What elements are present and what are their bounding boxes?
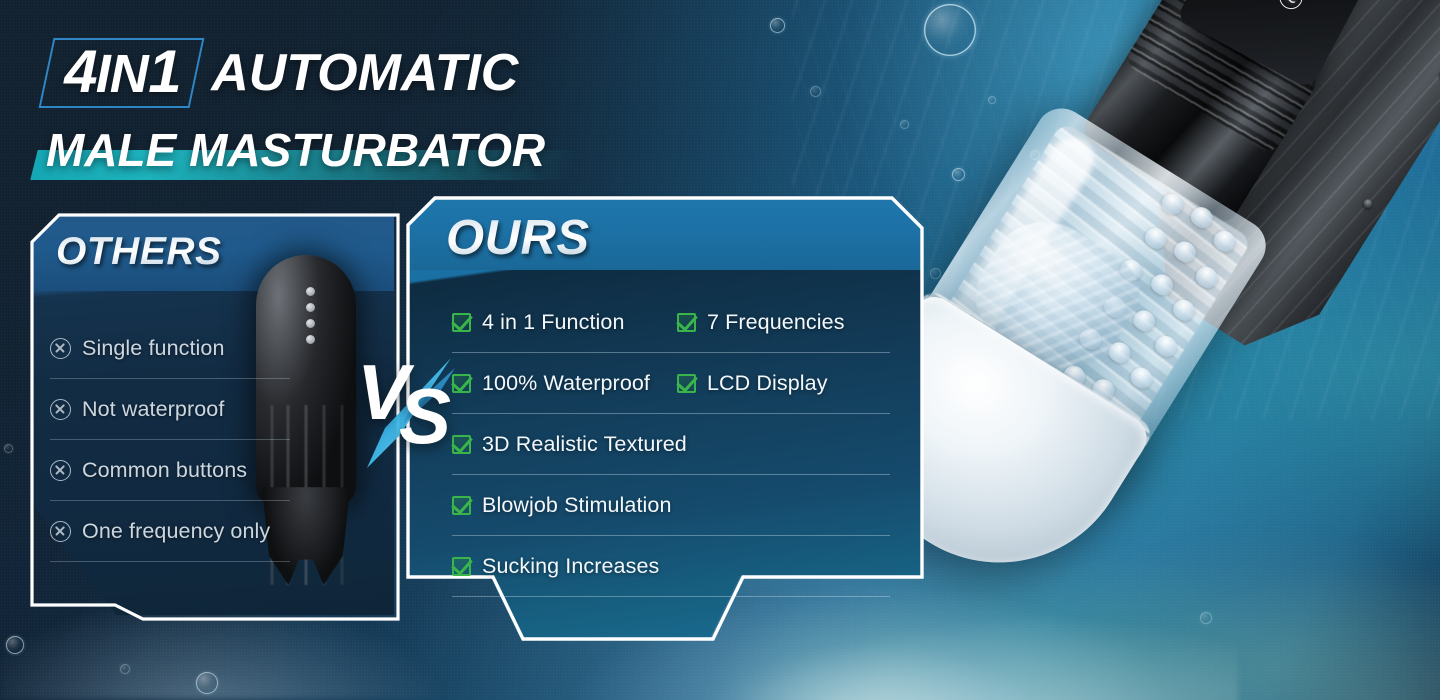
infographic-canvas: ◎ ✆ ⏻ ≋ 4IN1 xyxy=(0,0,1440,700)
list-item-label: 4 in 1 Function xyxy=(482,310,625,335)
vs-badge: V S xyxy=(355,340,467,470)
others-list: Single function Not waterproof Common bu… xyxy=(50,318,290,562)
list-item-label: Common buttons xyxy=(82,458,247,483)
list-item-label: 3D Realistic Textured xyxy=(482,432,687,457)
list-item: Not waterproof xyxy=(50,379,290,440)
checkbox-checked-icon xyxy=(452,557,471,576)
vs-letter-v: V xyxy=(357,346,403,438)
list-item: 4 in 1 Function 7 Frequencies xyxy=(452,292,890,353)
headline-automatic: AUTOMATIC xyxy=(211,43,518,103)
badge-in: IN xyxy=(96,44,148,104)
badge-number: 4 xyxy=(64,42,96,102)
x-circle-icon xyxy=(50,338,71,359)
headline: 4IN1 AUTOMATIC MALE MASTURBATOR xyxy=(46,38,806,180)
list-item-label: One frequency only xyxy=(82,519,270,544)
x-circle-icon xyxy=(50,460,71,481)
list-item: Single function xyxy=(50,318,290,379)
checkbox-checked-icon xyxy=(452,496,471,515)
list-item: 3D Realistic Textured xyxy=(452,414,890,475)
ours-list: 4 in 1 Function 7 Frequencies 100% Water… xyxy=(452,292,890,597)
others-panel-title: OTHERS xyxy=(56,229,222,275)
checkbox-checked-icon xyxy=(677,313,696,332)
list-item: 100% Waterproof LCD Display xyxy=(452,353,890,414)
list-item: Sucking Increases xyxy=(452,536,890,597)
list-item: Common buttons xyxy=(50,440,290,501)
headline-subtitle: MALE MASTURBATOR xyxy=(46,124,545,176)
badge-one: 1 xyxy=(149,42,181,102)
ours-panel-title: OURS xyxy=(446,209,590,267)
badge-4-in-1: 4IN1 xyxy=(39,38,205,108)
checkbox-checked-icon xyxy=(452,313,471,332)
checkbox-checked-icon xyxy=(677,374,696,393)
list-item-label: Blowjob Stimulation xyxy=(482,493,672,518)
list-item: Blowjob Stimulation xyxy=(452,475,890,536)
x-circle-icon xyxy=(50,399,71,420)
list-item: One frequency only xyxy=(50,501,290,562)
list-item-label: Sucking Increases xyxy=(482,554,659,579)
list-item-label: 7 Frequencies xyxy=(707,310,845,335)
list-item-label: Not waterproof xyxy=(82,397,224,422)
vs-letter-s: S xyxy=(399,370,445,462)
list-item-label: LCD Display xyxy=(707,371,828,396)
list-item-label: Single function xyxy=(82,336,225,361)
list-item-label: 100% Waterproof xyxy=(482,371,650,396)
x-circle-icon xyxy=(50,521,71,542)
